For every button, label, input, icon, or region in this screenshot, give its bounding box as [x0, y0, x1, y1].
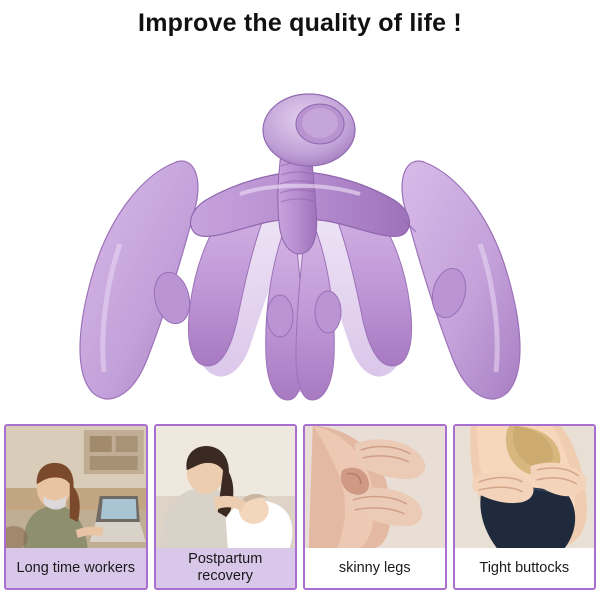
page-title: Improve the quality of life ! — [0, 8, 600, 38]
card-caption-postpartum-recovery: Postpartum recovery — [156, 548, 296, 588]
card-photo-mother-baby — [156, 426, 296, 548]
pelvic-trainer-illustration — [0, 44, 600, 416]
center-left-pad — [267, 295, 293, 337]
card-photo-hands-on-hips — [455, 426, 595, 548]
card-caption-tight-buttocks: Tight buttocks — [455, 548, 595, 588]
card-long-time-workers[interactable]: Long time workers — [4, 424, 148, 590]
card-photo-thigh-pinch — [305, 426, 445, 548]
card-caption-skinny-legs: skinny legs — [305, 548, 445, 588]
card-photo-office-worker — [6, 426, 146, 548]
product-infographic-page: Improve the quality of life ! — [0, 0, 600, 600]
card-caption-long-time-workers: Long time workers — [6, 548, 146, 588]
card-skinny-legs[interactable]: skinny legs — [303, 424, 447, 590]
use-case-card-strip: Long time workers — [4, 424, 596, 590]
center-right-pad — [315, 291, 341, 333]
card-tight-buttocks[interactable]: Tight buttocks — [453, 424, 597, 590]
top-recess-inner — [302, 108, 338, 138]
hero-product-image — [0, 44, 600, 416]
card-postpartum-recovery[interactable]: Postpartum recovery — [154, 424, 298, 590]
